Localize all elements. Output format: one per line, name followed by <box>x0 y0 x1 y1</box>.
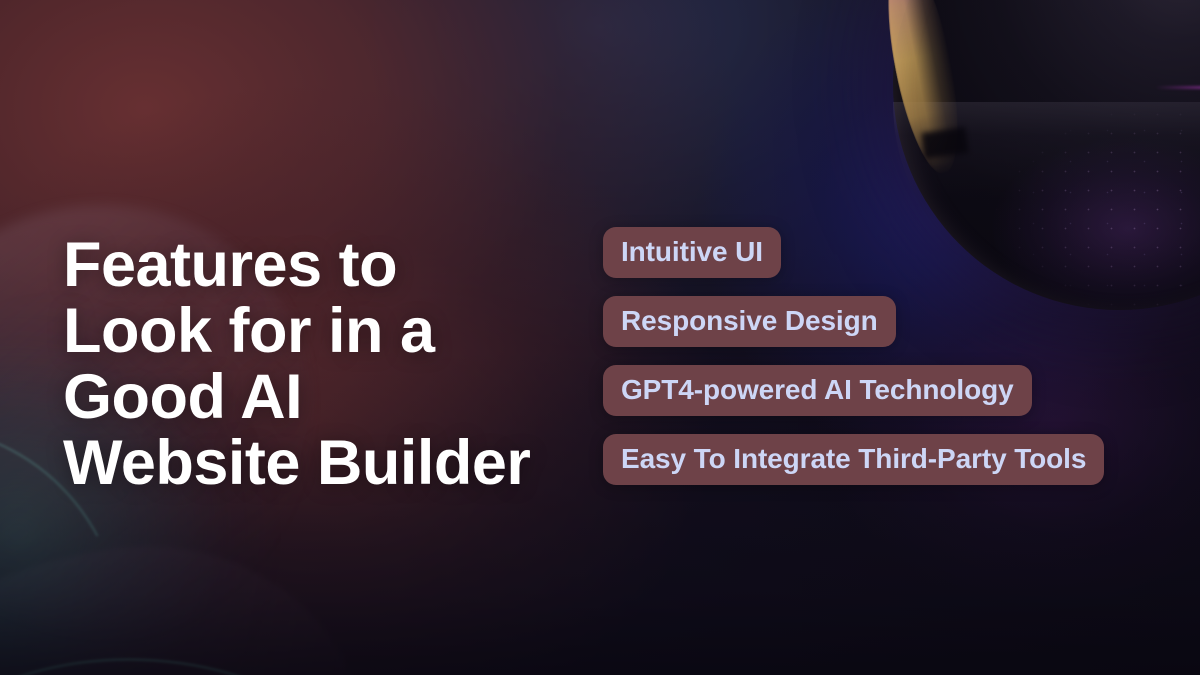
feature-pill-responsive-design[interactable]: Responsive Design <box>603 296 896 347</box>
feature-pill-list: Intuitive UI Responsive Design GPT4-powe… <box>603 227 1104 485</box>
slide-canvas: Features to Look for in a Good AI Websit… <box>0 0 1200 675</box>
feature-pill-third-party-tools[interactable]: Easy To Integrate Third-Party Tools <box>603 434 1104 485</box>
feature-pill-intuitive-ui[interactable]: Intuitive UI <box>603 227 781 278</box>
page-title: Features to Look for in a Good AI Websit… <box>63 232 563 496</box>
feature-pill-gpt4-ai-technology[interactable]: GPT4-powered AI Technology <box>603 365 1032 416</box>
slide-content: Features to Look for in a Good AI Websit… <box>0 0 1200 675</box>
